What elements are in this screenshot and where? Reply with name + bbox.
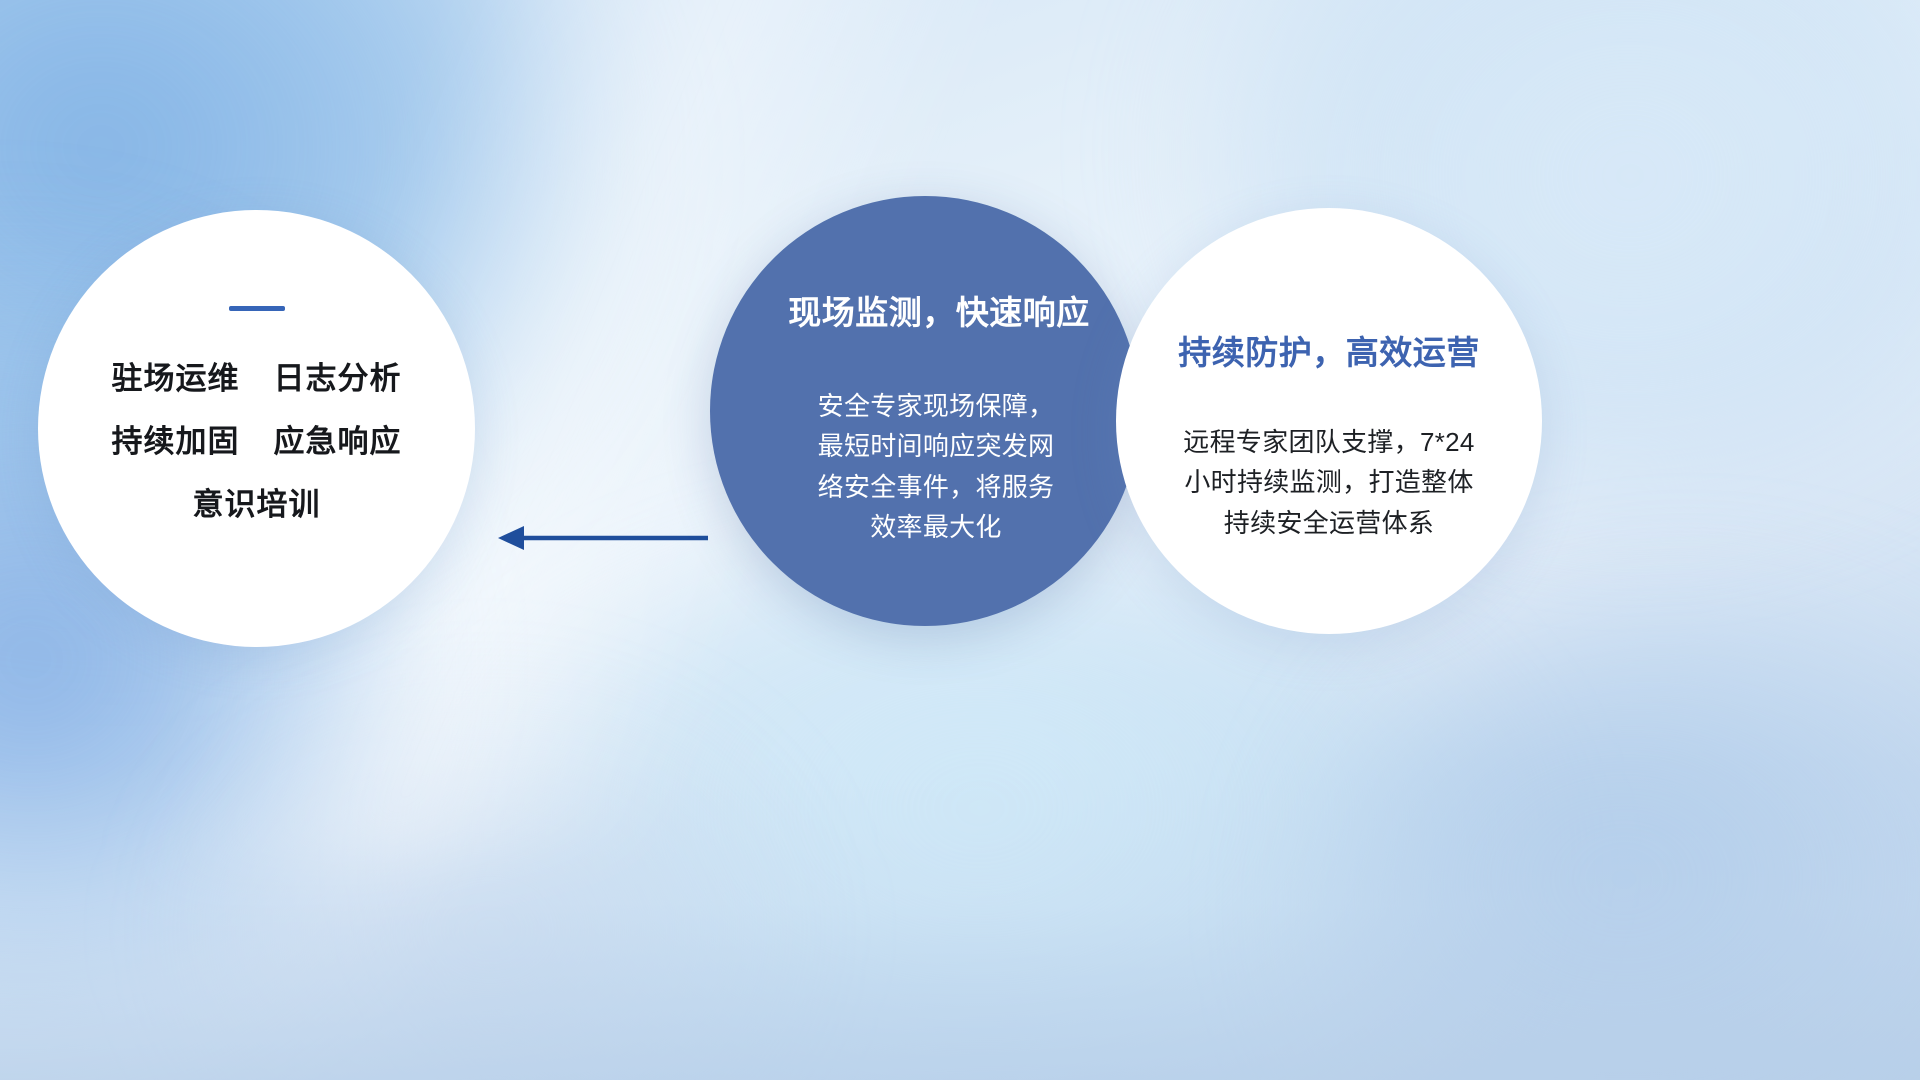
arrow-left-icon bbox=[494, 520, 709, 556]
left-card-keyword-row: 持续加固 应急响应 bbox=[112, 416, 402, 461]
left-card-keyword-row: 意识培训 bbox=[193, 479, 321, 524]
middle-card-body: 安全专家现场保障， 最短时间响应突发网 络安全事件，将服务 效率最大化 bbox=[760, 386, 1112, 547]
middle-card-content: 现场监测，快速响应 安全专家现场保障， 最短时间响应突发网 络安全事件，将服务 … bbox=[710, 196, 1140, 626]
keyword-chip: 日志分析 bbox=[274, 353, 402, 398]
keyword-chip: 应急响应 bbox=[274, 416, 402, 461]
left-card-divider bbox=[229, 306, 285, 311]
right-card-body: 远程专家团队支撑，7*24 小时持续监测，打造整体 持续安全运营体系 bbox=[1138, 422, 1520, 543]
slide-canvas: 驻场运维 日志分析 持续加固 应急响应 意识培训 现场监测，快速响应 安全专家现… bbox=[0, 0, 1920, 1080]
keyword-chip: 驻场运维 bbox=[112, 353, 240, 398]
right-card-content: 持续防护，高效运营 远程专家团队支撑，7*24 小时持续监测，打造整体 持续安全… bbox=[1116, 208, 1542, 634]
right-card-body-line: 持续安全运营体系 bbox=[1138, 503, 1520, 543]
left-card-keyword-row: 驻场运维 日志分析 bbox=[112, 353, 402, 398]
right-card-title: 持续防护，高效运营 bbox=[1138, 326, 1520, 374]
middle-card-body-line: 安全专家现场保障， bbox=[760, 386, 1112, 426]
left-card-content: 驻场运维 日志分析 持续加固 应急响应 意识培训 bbox=[38, 210, 475, 647]
left-card-keyword-list: 驻场运维 日志分析 持续加固 应急响应 意识培训 bbox=[112, 353, 402, 524]
middle-card-body-line: 最短时间响应突发网 bbox=[760, 426, 1112, 466]
middle-card-body-line: 络安全事件，将服务 bbox=[760, 467, 1112, 507]
keyword-chip: 持续加固 bbox=[112, 416, 240, 461]
right-card-body-line: 小时持续监测，打造整体 bbox=[1138, 462, 1520, 502]
middle-card-body-line: 效率最大化 bbox=[760, 507, 1112, 547]
middle-card-title: 现场监测，快速响应 bbox=[766, 286, 1112, 334]
right-card-body-line: 远程专家团队支撑，7*24 bbox=[1138, 422, 1520, 462]
keyword-chip: 意识培训 bbox=[193, 479, 321, 524]
